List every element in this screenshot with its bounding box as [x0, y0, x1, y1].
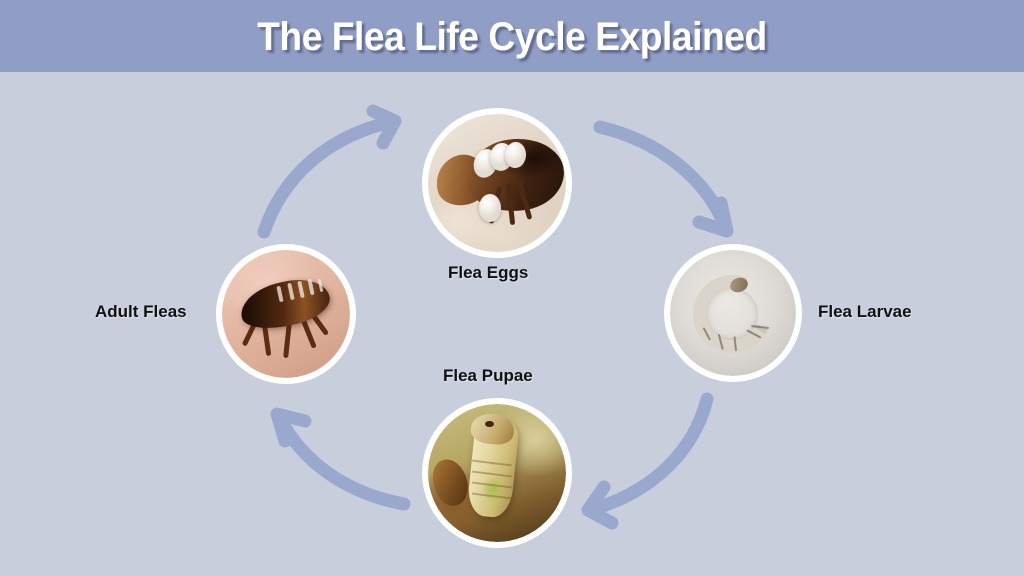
arrow-adult-to-eggs: [264, 111, 395, 232]
header-banner: The Flea Life Cycle Explained: [0, 0, 1024, 72]
adult-flea-photo: [222, 250, 350, 378]
page-title: The Flea Life Cycle Explained: [257, 17, 767, 57]
flea-eggs-photo: [428, 114, 566, 252]
arrow-pupae-to-adult: [277, 414, 404, 504]
flea-pupae-photo: [428, 404, 566, 542]
flea-larvae-photo: [670, 250, 796, 376]
flea-life-cycle-infographic: The Flea Life Cycle Explained: [0, 0, 1024, 576]
stage-photo-pupae[interactable]: [422, 398, 572, 548]
stage-photo-eggs[interactable]: [422, 108, 572, 258]
flea-egg: [479, 194, 501, 222]
stage-label-eggs: Flea Eggs: [448, 263, 528, 283]
arrow-larvae-to-pupae: [588, 399, 707, 523]
stage-photo-adult[interactable]: [216, 244, 356, 384]
pupa-debris: [428, 456, 471, 510]
arrow-eggs-to-larvae: [600, 127, 727, 231]
stage-photo-larvae[interactable]: [664, 244, 802, 382]
flea-leg: [283, 322, 292, 358]
stage-label-adult: Adult Fleas: [95, 302, 187, 322]
stage-label-larvae: Flea Larvae: [818, 302, 912, 322]
stage-label-pupae: Flea Pupae: [443, 366, 533, 386]
